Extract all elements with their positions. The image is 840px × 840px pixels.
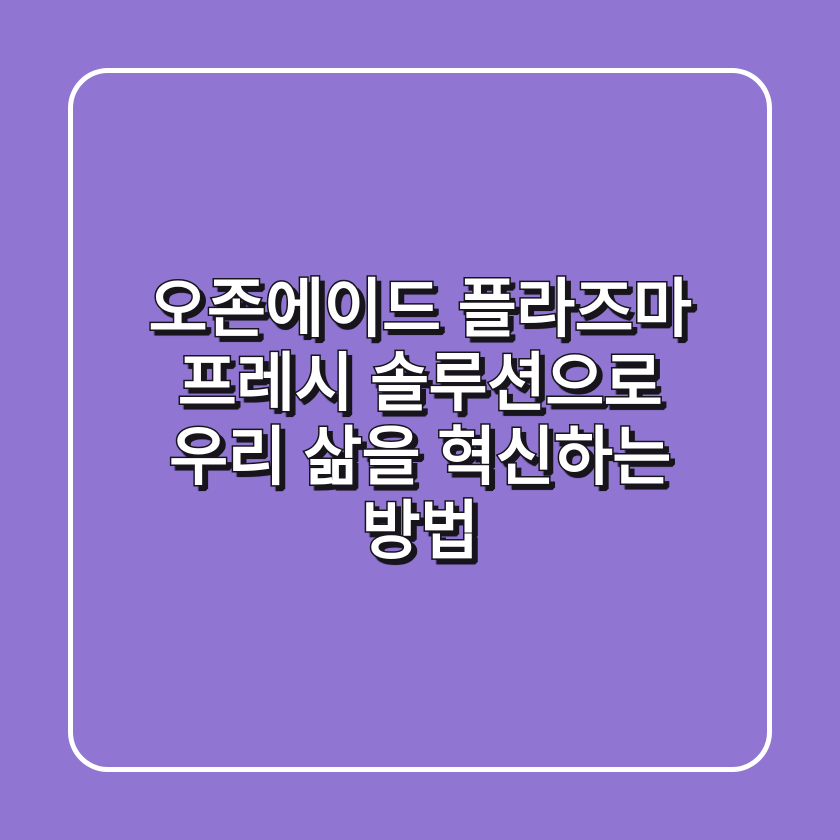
title-card: 오존에이드 플라즈마 프레시 솔루션으로 우리 삶을 혁신하는 방법 [0, 0, 840, 840]
headline-line-3: 우리 삶을 혁신하는 [100, 420, 740, 494]
headline-line-4: 방법 [100, 494, 740, 568]
headline-line-1: 오존에이드 플라즈마 [100, 272, 740, 346]
headline-text: 오존에이드 플라즈마 프레시 솔루션으로 우리 삶을 혁신하는 방법 [100, 272, 740, 568]
headline-line-2: 프레시 솔루션으로 [100, 346, 740, 420]
